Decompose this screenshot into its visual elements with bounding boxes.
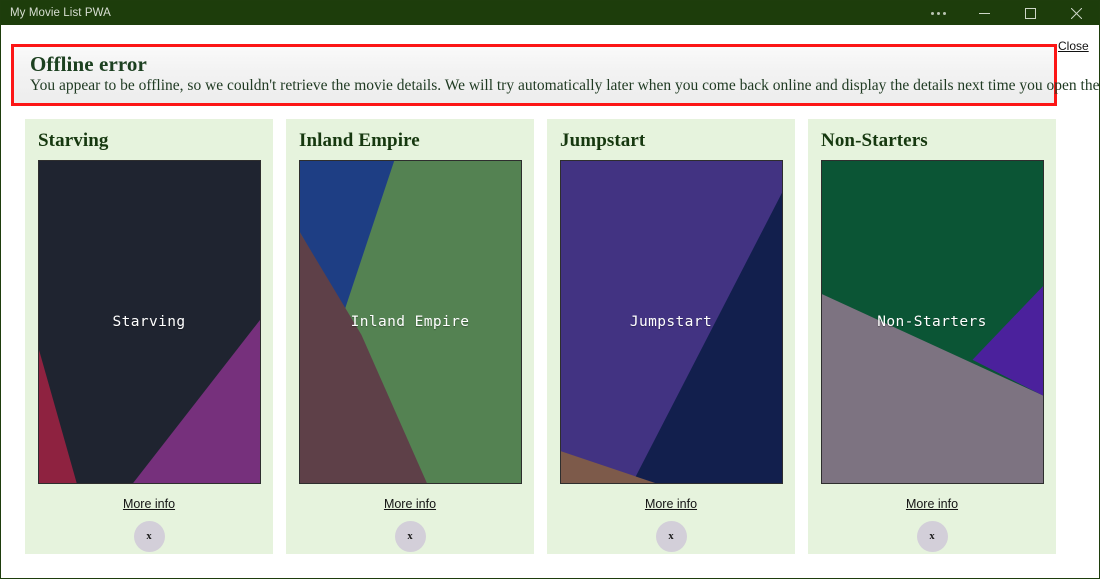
- close-window-button[interactable]: [1053, 1, 1099, 25]
- movie-title: Inland Empire: [299, 131, 420, 150]
- minimize-icon: [979, 8, 990, 19]
- delete-movie-button[interactable]: x: [395, 521, 426, 552]
- close-error-link[interactable]: Close: [1058, 39, 1089, 53]
- movie-title: Non-Starters: [821, 131, 928, 150]
- movie-card: Jumpstart Jumpstart More info x: [547, 119, 795, 554]
- delete-movie-button[interactable]: x: [656, 521, 687, 552]
- more-options-button[interactable]: [915, 1, 961, 25]
- error-message: You appear to be offline, so we couldn't…: [30, 77, 1044, 95]
- movie-card: Non-Starters Non-Starters More info x: [808, 119, 1056, 554]
- title-bar: My Movie List PWA: [1, 1, 1099, 25]
- maximize-button[interactable]: [1007, 1, 1053, 25]
- movie-poster: Starving: [38, 160, 261, 484]
- close-icon: [1071, 8, 1082, 19]
- movie-poster: Jumpstart: [560, 160, 783, 484]
- minimize-button[interactable]: [961, 1, 1007, 25]
- ellipsis-icon: [931, 12, 946, 15]
- poster-label: Inland Empire: [351, 314, 470, 330]
- movie-card: Starving Starving More info x: [25, 119, 273, 554]
- more-info-link[interactable]: More info: [906, 497, 958, 511]
- app-window: My Movie List PWA Offline error You appe…: [0, 0, 1100, 579]
- movie-poster: Non-Starters: [821, 160, 1044, 484]
- movie-list: Starving Starving More info x Inland Emp…: [1, 119, 1099, 559]
- more-info-link[interactable]: More info: [384, 497, 436, 511]
- window-title: My Movie List PWA: [1, 7, 111, 19]
- movie-title: Jumpstart: [560, 131, 645, 150]
- poster-label: Non-Starters: [877, 314, 987, 330]
- movie-poster: Inland Empire: [299, 160, 522, 484]
- more-info-link[interactable]: More info: [123, 497, 175, 511]
- delete-movie-button[interactable]: x: [917, 521, 948, 552]
- maximize-icon: [1025, 8, 1036, 19]
- error-title: Offline error: [30, 53, 1044, 75]
- movie-card: Inland Empire Inland Empire More info x: [286, 119, 534, 554]
- poster-label: Starving: [112, 314, 185, 330]
- movie-title: Starving: [38, 131, 108, 150]
- more-info-link[interactable]: More info: [645, 497, 697, 511]
- delete-movie-button[interactable]: x: [134, 521, 165, 552]
- poster-label: Jumpstart: [630, 314, 712, 330]
- offline-error-banner: Offline error You appear to be offline, …: [11, 44, 1057, 106]
